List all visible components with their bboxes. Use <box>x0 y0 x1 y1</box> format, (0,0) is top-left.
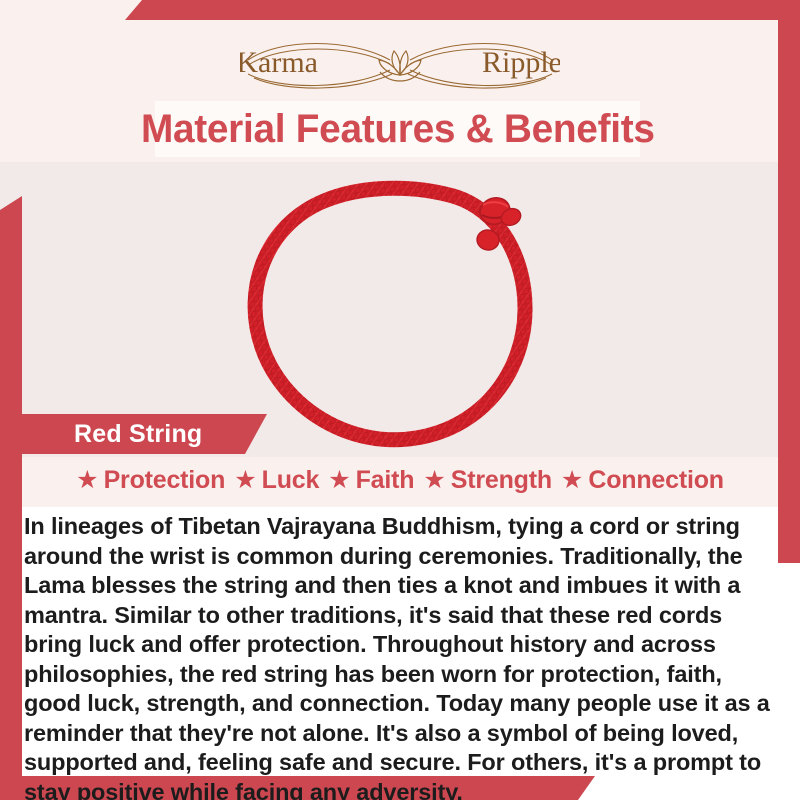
page-title: Material Features & Benefits <box>141 107 655 152</box>
benefit-item: ★ Connection <box>561 466 724 495</box>
benefit-label: Luck <box>262 466 320 495</box>
star-icon: ★ <box>561 468 583 493</box>
title-banner: Material Features & Benefits <box>155 101 640 157</box>
brand-logo: Karma Ripple <box>0 34 800 92</box>
bracelet-icon <box>230 165 590 455</box>
star-icon: ★ <box>423 468 445 493</box>
decorative-band-left <box>0 196 22 800</box>
product-image <box>230 165 590 455</box>
benefit-item: ★ Luck <box>234 466 319 495</box>
benefits-list: ★ Protection ★ Luck ★ Faith ★ Strength ★… <box>0 466 800 495</box>
lotus-icon <box>379 51 421 81</box>
material-name: Red String <box>74 420 202 449</box>
benefit-item: ★ Faith <box>328 466 414 495</box>
star-icon: ★ <box>234 468 256 493</box>
star-icon: ★ <box>76 468 98 493</box>
bracelet-cord-shade <box>255 188 525 440</box>
infographic-canvas: Karma Ripple Material Features & Benefit… <box>0 0 800 800</box>
brand-name-right: Ripple <box>482 46 560 79</box>
benefit-label: Connection <box>588 466 724 495</box>
benefit-label: Protection <box>104 466 226 495</box>
material-name-ribbon: Red String <box>22 414 267 454</box>
star-icon: ★ <box>328 468 350 493</box>
brand-name-left: Karma <box>240 46 318 79</box>
benefit-label: Faith <box>356 466 415 495</box>
benefit-label: Strength <box>451 466 552 495</box>
description-paragraph: In lineages of Tibetan Vajrayana Buddhis… <box>24 512 776 800</box>
benefit-item: ★ Protection <box>76 466 225 495</box>
benefit-item: ★ Strength <box>423 466 552 495</box>
brand-logo-graphic: Karma Ripple <box>240 34 560 92</box>
